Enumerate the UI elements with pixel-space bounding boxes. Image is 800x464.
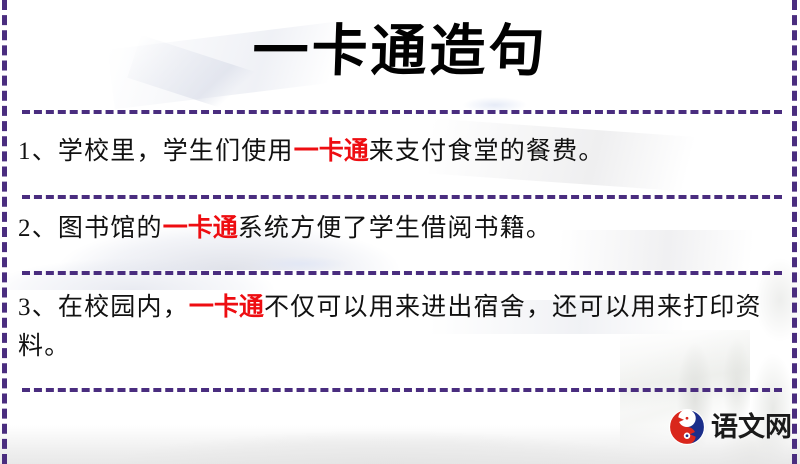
site-logo[interactable]: 语文网 xyxy=(668,408,792,446)
keyword-highlight-2: 一卡通 xyxy=(163,215,238,242)
sentence-text-before-3: 在校园内， xyxy=(58,294,189,321)
keyword-highlight-3: 一卡通 xyxy=(189,294,264,321)
page-root: 一卡通造句 1、学校里，学生们使用一卡通来支付食堂的餐费。 2、图书馆的一卡通系… xyxy=(0,0,800,464)
sentence-text-after-2: 系统方便了学生借阅书籍。 xyxy=(238,215,552,242)
frame-border-left xyxy=(2,0,7,464)
sentence-item-1: 1、学校里，学生们使用一卡通来支付食堂的餐费。 xyxy=(18,132,774,171)
sentence-index-2: 2、 xyxy=(18,215,58,242)
sentence-index-3: 3、 xyxy=(18,294,58,321)
frame-border-right xyxy=(792,0,797,464)
divider-under-title xyxy=(22,110,782,114)
page-title: 一卡通造句 xyxy=(0,14,800,90)
ink-wash-mountain xyxy=(20,395,720,464)
yinyang-fish-icon xyxy=(668,408,706,446)
sentence-text-after-1: 来支付食堂的餐费。 xyxy=(369,138,605,165)
divider-after-sentence-3 xyxy=(22,388,782,392)
sentence-item-3: 3、在校园内，一卡通不仅可以用来进出宿舍，还可以用来打印资料。 xyxy=(18,288,774,366)
divider-after-sentence-1 xyxy=(22,195,782,199)
sentence-text-before-2: 图书馆的 xyxy=(58,215,163,242)
sentence-index-1: 1、 xyxy=(18,138,58,165)
sentence-item-2: 2、图书馆的一卡通系统方便了学生借阅书籍。 xyxy=(18,209,774,248)
divider-after-sentence-2 xyxy=(22,271,782,275)
site-logo-text: 语文网 xyxy=(711,412,792,442)
sentence-text-before-1: 学校里，学生们使用 xyxy=(58,138,294,165)
keyword-highlight-1: 一卡通 xyxy=(294,138,369,165)
